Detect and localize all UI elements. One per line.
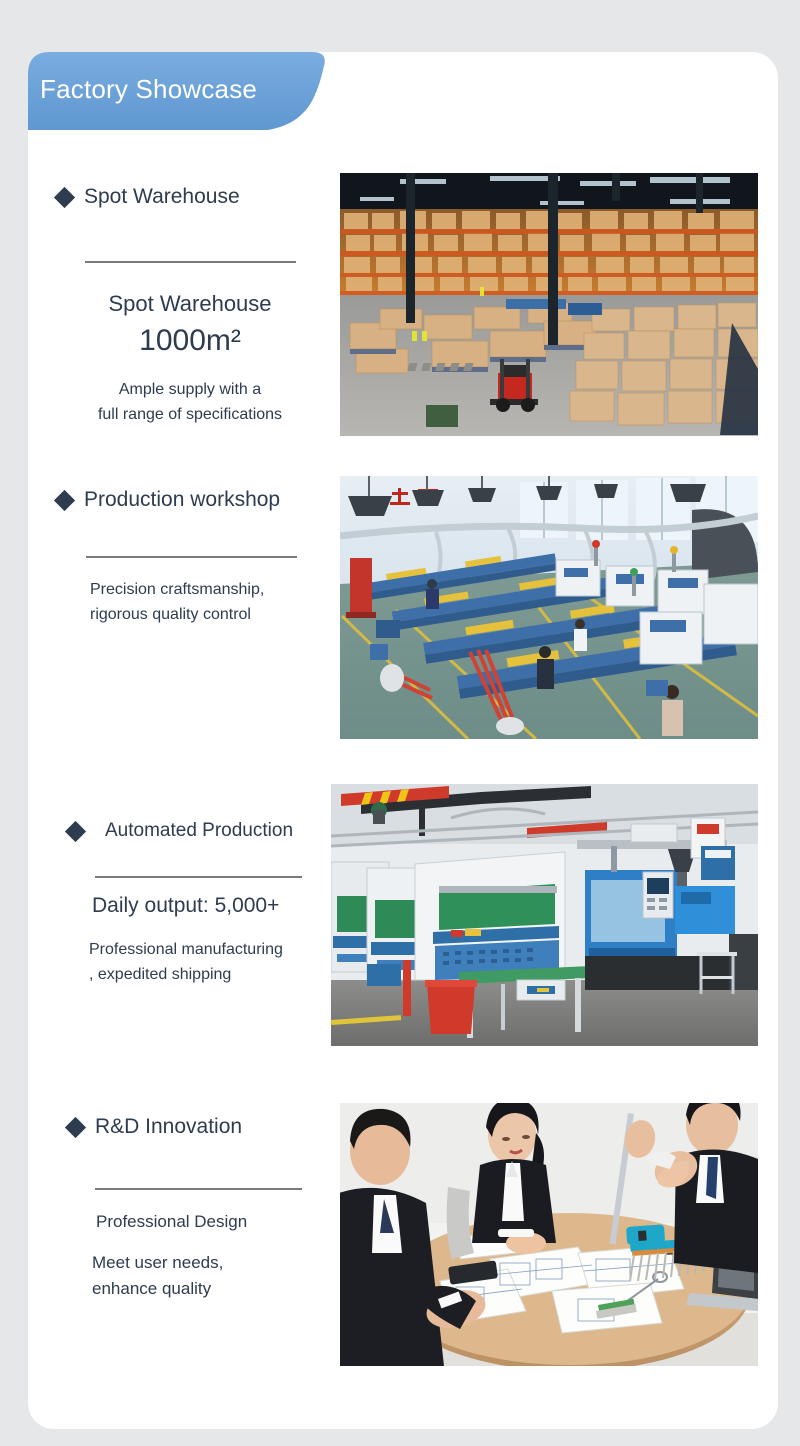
factory-showcase-page: Factory Showcase Spot Warehouse Spot War… bbox=[0, 0, 800, 1446]
section-description-2: Precision craftsmanship, rigorous qualit… bbox=[90, 578, 340, 628]
section-heading-2: Production workshop bbox=[57, 488, 280, 512]
page-title: Factory Showcase bbox=[40, 74, 257, 105]
section-divider-4 bbox=[95, 1188, 302, 1190]
warehouse-photo bbox=[340, 173, 758, 436]
section-description-1: Ample supply with a full range of specif… bbox=[57, 378, 323, 428]
section-divider-3 bbox=[95, 876, 302, 878]
rd-innovation-photo bbox=[340, 1103, 758, 1366]
diamond-icon bbox=[65, 1116, 86, 1137]
diamond-icon bbox=[65, 820, 86, 841]
section-heading-label: Spot Warehouse bbox=[84, 185, 240, 209]
section-heading-3: Automated Production bbox=[68, 820, 293, 842]
section-description-4: Meet user needs, enhance quality bbox=[92, 1250, 342, 1303]
section-divider-1 bbox=[85, 261, 296, 263]
section-title-1: Spot Warehouse bbox=[57, 291, 323, 317]
section-heading-label: Automated Production bbox=[105, 820, 293, 842]
section-metric-1: 1000m² bbox=[57, 324, 323, 358]
section-description-3: Professional manufacturing , expedited s… bbox=[89, 938, 341, 988]
section-heading-1: Spot Warehouse bbox=[57, 185, 240, 209]
section-heading-label: R&D Innovation bbox=[95, 1115, 242, 1139]
diamond-icon bbox=[54, 489, 75, 510]
section-title-4: Professional Design bbox=[96, 1212, 346, 1232]
production-workshop-photo bbox=[340, 476, 758, 739]
section-metric-3: Daily output: 5,000+ bbox=[92, 894, 342, 918]
section-heading-4: R&D Innovation bbox=[68, 1115, 242, 1139]
section-heading-label: Production workshop bbox=[84, 488, 280, 512]
section-divider-2 bbox=[86, 556, 297, 558]
diamond-icon bbox=[54, 186, 75, 207]
automated-production-photo bbox=[331, 784, 758, 1046]
